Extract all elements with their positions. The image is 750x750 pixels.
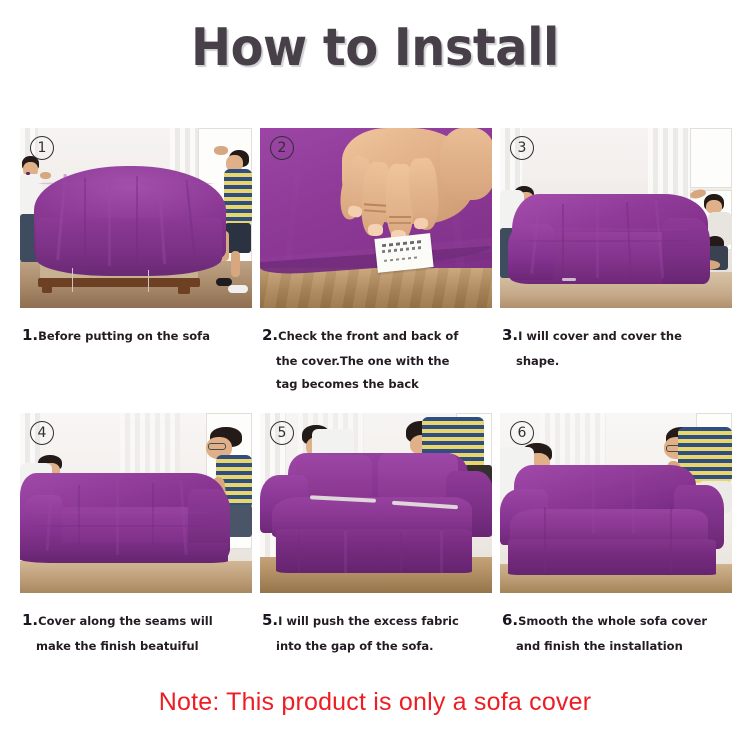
step-badge-3: 3 [510,136,534,160]
step-number-2: 2. [262,326,278,344]
step-caption-5: 5.I will push the excess fabric into the… [260,606,492,658]
steps-row-2: 4 1.Cover along the seams will make the … [20,413,734,658]
step-text-3-line-1: I will cover and cover the [518,329,682,343]
step-photo-1: 1 [20,128,252,308]
step-number-6: 6. [502,611,518,629]
footer-note: Note: This product is only a sofa cover [0,688,750,717]
step-text-3-line-2: shape. [502,350,732,372]
step-badge-1: 1 [30,136,54,160]
step-caption-2: 2.Check the front and back of the cover.… [260,321,492,395]
step-badge-4: 4 [30,421,54,445]
step-badge-5: 5 [270,421,294,445]
step-text-6-line-1: Smooth the whole sofa cover [518,614,707,628]
step-photo-6: 6 [500,413,732,593]
steps-grid: 1 1.Before putting on the sofa [20,128,734,658]
step-photo-4: 4 [20,413,252,593]
step-badge-2: 2 [270,136,294,160]
step-text-5-line-2: into the gap of the sofa. [262,635,492,657]
step-caption-4: 1.Cover along the seams will make the fi… [20,606,252,658]
step-card-2[interactable]: 2 2.Check the front and back of the cove… [260,128,492,395]
step-card-3[interactable]: 3 3.I will cover and cover the shape. [500,128,732,395]
step-card-5[interactable]: 5 5.I will push the excess fabric into t… [260,413,492,658]
step-number-5: 5. [262,611,278,629]
step-number-1: 1. [22,326,38,344]
step-card-6[interactable]: 6 6.Smooth the whole sofa cover and fini… [500,413,732,658]
step-text-1-line-1: Before putting on the sofa [38,329,210,343]
step-text-2-line-2: the cover.The one with the [262,350,492,372]
step-text-2-line-3: tag becomes the back [262,373,492,395]
step-card-4[interactable]: 4 1.Cover along the seams will make the … [20,413,252,658]
step-photo-5: 5 [260,413,492,593]
step-photo-2: 2 [260,128,492,308]
step-caption-1: 1.Before putting on the sofa [20,321,252,350]
step-text-4-line-2: make the finish beatuiful [22,635,252,657]
step-text-6-line-2: and finish the installation [502,635,732,657]
step-photo-3: 3 [500,128,732,308]
step-number-4: 1. [22,611,38,629]
steps-row-1: 1 1.Before putting on the sofa [20,128,734,395]
step-card-1[interactable]: 1 1.Before putting on the sofa [20,128,252,395]
step-caption-3: 3.I will cover and cover the shape. [500,321,732,373]
step-text-4-line-1: Cover along the seams will [38,614,213,628]
step-text-5-line-1: I will push the excess fabric [278,614,459,628]
step-number-3: 3. [502,326,518,344]
step-badge-6: 6 [510,421,534,445]
step-text-2-line-1: Check the front and back of [278,329,458,343]
how-to-install-infographic: How to Install [0,0,750,750]
step-caption-6: 6.Smooth the whole sofa cover and finish… [500,606,732,658]
page-title: How to Install [30,22,720,74]
